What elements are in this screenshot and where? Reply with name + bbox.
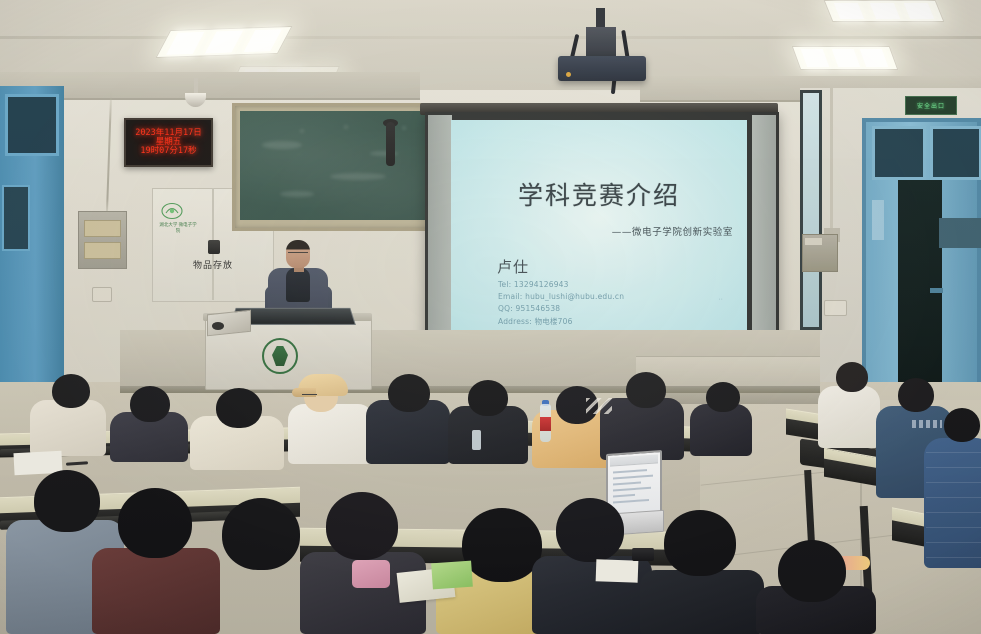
microphone-icon[interactable]	[212, 322, 224, 330]
projector-mount	[586, 27, 616, 58]
cabinet-label: 物品存放	[178, 258, 248, 271]
laptop-toolbar	[610, 454, 658, 466]
slide-contact-email: Email: hubu_lushi@hubu.edu.cn	[498, 292, 624, 301]
door-left-window	[2, 185, 30, 251]
water-bottle[interactable]	[540, 404, 551, 442]
glasses-icon	[302, 394, 317, 399]
light-switch[interactable]	[824, 300, 847, 316]
slide-surface: 学科竞赛介绍 ——微电子学院创新实验室 卢仕 Tel: 13294126943 …	[451, 120, 747, 336]
student-head	[216, 388, 262, 428]
door-handle[interactable]	[930, 288, 943, 293]
led-clock-display: 2023年11月17日 星期五 19时07分17秒	[124, 118, 213, 167]
projection-screen: 学科竞赛介绍 ——微电子学院创新实验室 卢仕 Tel: 13294126943 …	[425, 112, 779, 350]
phone-on-desk[interactable]	[632, 548, 654, 561]
wall-conduit	[830, 88, 833, 228]
student-head	[944, 408, 980, 442]
glasses-icon	[288, 252, 308, 257]
pink-backpack[interactable]	[352, 560, 390, 588]
cabinet-handle[interactable]	[208, 240, 220, 254]
wall-pillar-right	[752, 115, 776, 347]
projector-icon	[558, 56, 646, 81]
ceiling-light-panel	[155, 26, 292, 58]
slide-corner-mark: ··	[718, 296, 723, 303]
student-head	[388, 374, 430, 412]
student-head	[556, 498, 624, 562]
led-clock-time: 19时07分17秒	[140, 147, 196, 156]
slide-presenter-name: 卢仕	[497, 256, 529, 277]
podium-crest-icon	[262, 338, 298, 374]
bottle-label	[540, 417, 551, 431]
student-head	[706, 382, 740, 412]
chalkboard	[232, 103, 446, 231]
student-head	[222, 498, 300, 570]
slide-contact-qq: QQ: 951546538	[498, 304, 560, 313]
hanging-pouch	[386, 122, 395, 166]
right-window	[800, 90, 822, 330]
student-head	[34, 470, 100, 532]
ceiling-light-panel	[824, 0, 945, 22]
door-transom-window	[930, 126, 981, 180]
slide-contact-tel: Tel: 13294126943	[498, 280, 569, 289]
open-doorway	[898, 180, 942, 386]
wall-pillar-left	[428, 115, 452, 347]
puffer-quilting	[926, 452, 981, 562]
slide-title: 学科竞赛介绍	[451, 176, 747, 212]
student-head	[52, 374, 90, 408]
slide-contact-address: Address: 物电楼706	[498, 316, 573, 327]
student-head	[118, 488, 192, 558]
student-body	[818, 386, 880, 448]
ceiling-light-panel	[792, 46, 899, 70]
door-panel	[939, 218, 981, 248]
student-body	[640, 570, 764, 634]
slide-subtitle: ——微电子学院创新实验室	[612, 224, 733, 238]
ceiling-seam	[0, 36, 981, 39]
door-transom-window	[872, 126, 926, 180]
door-left-window	[5, 94, 59, 156]
paper-sheet[interactable]	[596, 559, 639, 582]
light-switch[interactable]	[92, 287, 112, 302]
door-kickplate	[872, 200, 884, 240]
student-body	[30, 400, 106, 456]
wall-control-panel[interactable]	[78, 211, 127, 269]
student-head	[130, 386, 170, 422]
cabinet-logo-caption: 湖北大学 微电子学院	[158, 222, 198, 233]
exit-sign-text: 安全出口	[917, 101, 945, 110]
student-head	[836, 362, 868, 392]
student-body	[288, 404, 374, 464]
water-bottle[interactable]	[472, 430, 481, 450]
university-logo-icon	[160, 202, 184, 220]
student-head	[468, 380, 508, 416]
lecturer-sweater	[286, 268, 310, 302]
jacket-text	[912, 420, 942, 428]
student-head	[898, 378, 934, 412]
exit-sign: 安全出口	[905, 96, 957, 115]
lecture-hall-photo: 2023年11月17日 星期五 19时07分17秒 湖北大学 微电子学院 物品存…	[0, 0, 981, 634]
student-head	[664, 510, 736, 576]
student-head	[326, 492, 398, 560]
green-notebook[interactable]	[431, 561, 473, 590]
student-head	[626, 372, 666, 408]
student-head	[778, 540, 846, 602]
hoodie-stripes	[586, 398, 612, 414]
student-head	[462, 508, 542, 582]
fire-equipment-label	[805, 238, 822, 245]
